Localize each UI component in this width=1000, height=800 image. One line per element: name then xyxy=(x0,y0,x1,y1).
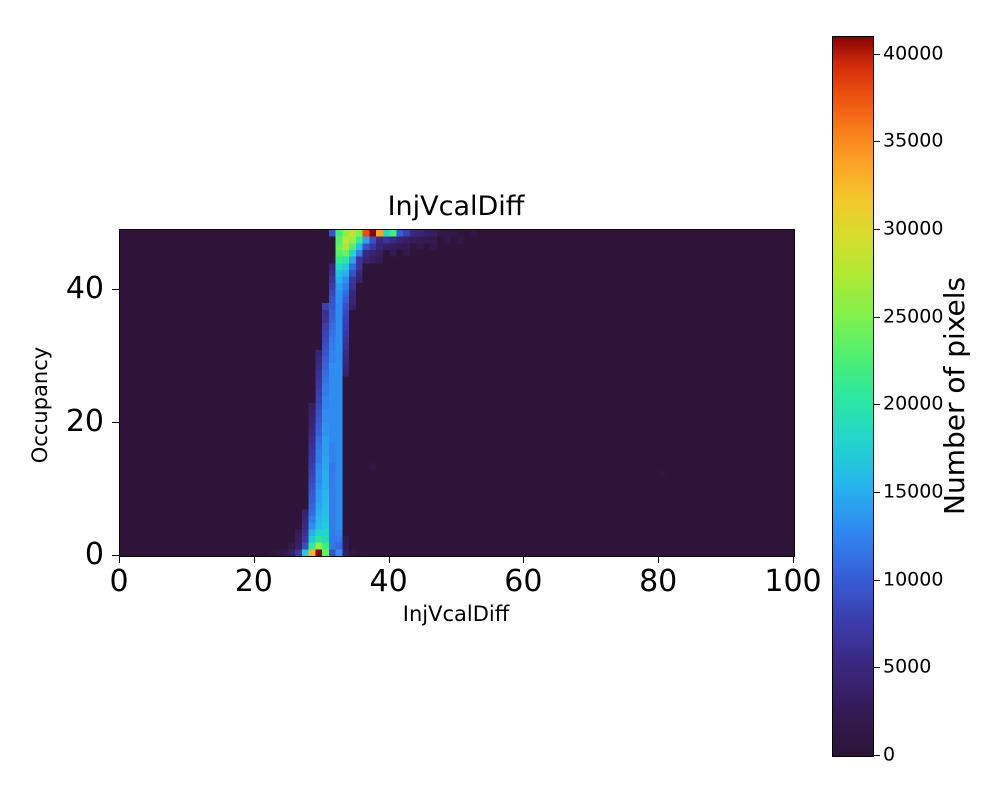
y-tick-mark xyxy=(112,289,119,290)
y-tick-mark xyxy=(112,422,119,423)
colorbar-tick-label: 10000 xyxy=(883,568,943,591)
x-axis-label: InjVcalDiff xyxy=(119,601,793,627)
heatmap-axes xyxy=(119,229,795,557)
colorbar-label: Number of pixels xyxy=(938,315,972,515)
x-tick-mark xyxy=(658,556,659,563)
colorbar-tick-label: 20000 xyxy=(883,393,943,416)
x-tick-label: 60 xyxy=(504,564,542,600)
x-tick-label: 80 xyxy=(639,564,677,600)
colorbar-gradient xyxy=(833,37,873,756)
colorbar-tick-mark xyxy=(874,404,880,405)
x-tick-label: 100 xyxy=(764,564,821,600)
x-tick-mark xyxy=(389,556,390,563)
colorbar-tick-mark xyxy=(874,492,880,493)
y-tick-label: 40 xyxy=(0,271,104,307)
heatmap-image xyxy=(120,230,794,556)
figure-canvas: InjVcalDiff 020406080100 InjVcalDiff 020… xyxy=(0,0,1000,800)
y-tick-label: 0 xyxy=(0,537,104,573)
colorbar-tick-mark xyxy=(874,141,880,142)
colorbar-tick-label: 35000 xyxy=(883,130,943,153)
x-tick-mark xyxy=(254,556,255,563)
colorbar-tick-mark xyxy=(874,54,880,55)
x-tick-mark xyxy=(523,556,524,563)
colorbar-tick-mark xyxy=(874,317,880,318)
colorbar-tick-mark xyxy=(874,580,880,581)
x-tick-label: 0 xyxy=(109,564,128,600)
colorbar-tick-mark xyxy=(874,229,880,230)
colorbar-tick-mark xyxy=(874,755,880,756)
x-tick-label: 20 xyxy=(235,564,273,600)
x-tick-label: 40 xyxy=(370,564,408,600)
colorbar xyxy=(832,36,874,757)
y-axis-label: Occupancy xyxy=(27,305,53,505)
colorbar-tick-label: 30000 xyxy=(883,217,943,240)
colorbar-tick-label: 15000 xyxy=(883,480,943,503)
colorbar-tick-label: 40000 xyxy=(883,42,943,65)
x-tick-mark xyxy=(119,556,120,563)
x-tick-mark xyxy=(793,556,794,563)
colorbar-tick-label: 0 xyxy=(883,744,895,767)
colorbar-tick-label: 5000 xyxy=(883,656,931,679)
colorbar-tick-label: 25000 xyxy=(883,305,943,328)
y-tick-mark xyxy=(112,555,119,556)
page-title: InjVcalDiff xyxy=(119,191,793,223)
colorbar-tick-mark xyxy=(874,667,880,668)
